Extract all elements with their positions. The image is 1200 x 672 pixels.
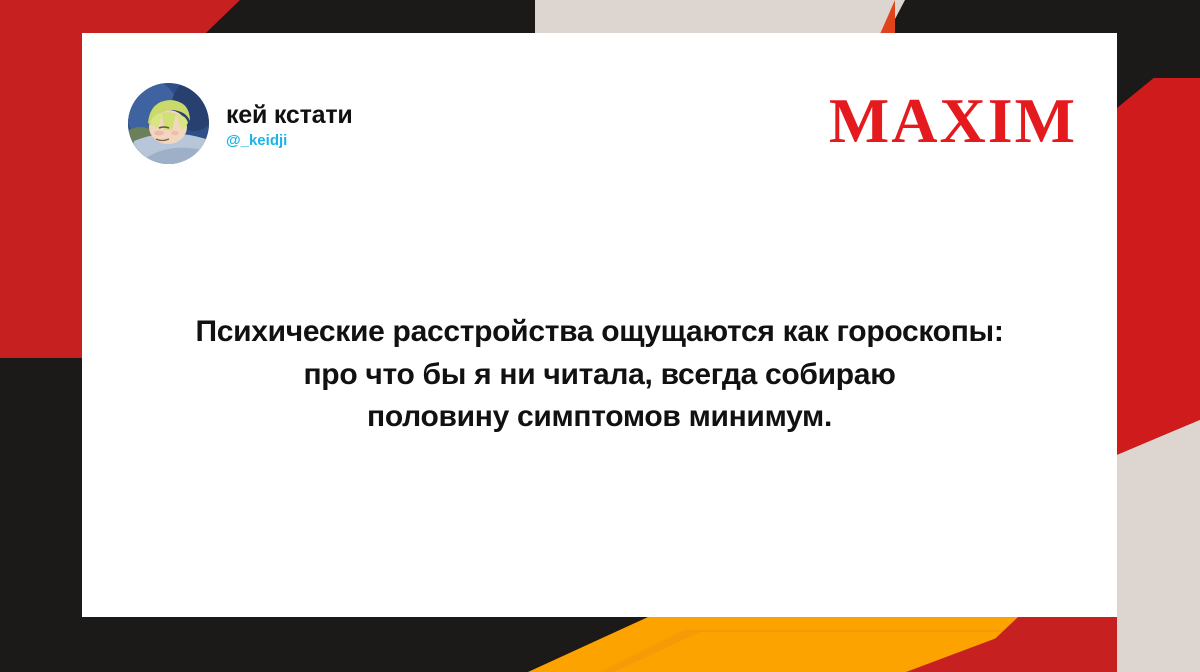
quote-line-3: половину симптомов минимум. (112, 396, 1087, 439)
author-block: кей кстати @_keidji (128, 83, 353, 164)
left-red-column (0, 0, 82, 360)
quote-line-1: Психические расстройства ощущаются как г… (112, 311, 1087, 354)
quote-line-2: про что бы я ни читала, всегда собираю (112, 354, 1087, 397)
quote-block: Психические расстройства ощущаются как г… (82, 311, 1117, 439)
avatar (128, 83, 209, 164)
author-display-name: кей кстати (226, 102, 353, 130)
author-handle[interactable]: @_keidji (226, 133, 353, 150)
card-header: кей кстати @_keidji MAXIM (128, 83, 1087, 164)
right-red-panel (1117, 78, 1200, 455)
content-card: кей кстати @_keidji MAXIM Психические ра… (82, 33, 1117, 617)
bottom-right-beige (1117, 617, 1200, 672)
maxim-logo: MAXIM (829, 83, 1087, 153)
author-text: кей кстати @_keidji (226, 98, 353, 150)
screenshot-canvas: кей кстати @_keidji MAXIM Психические ра… (0, 0, 1200, 672)
